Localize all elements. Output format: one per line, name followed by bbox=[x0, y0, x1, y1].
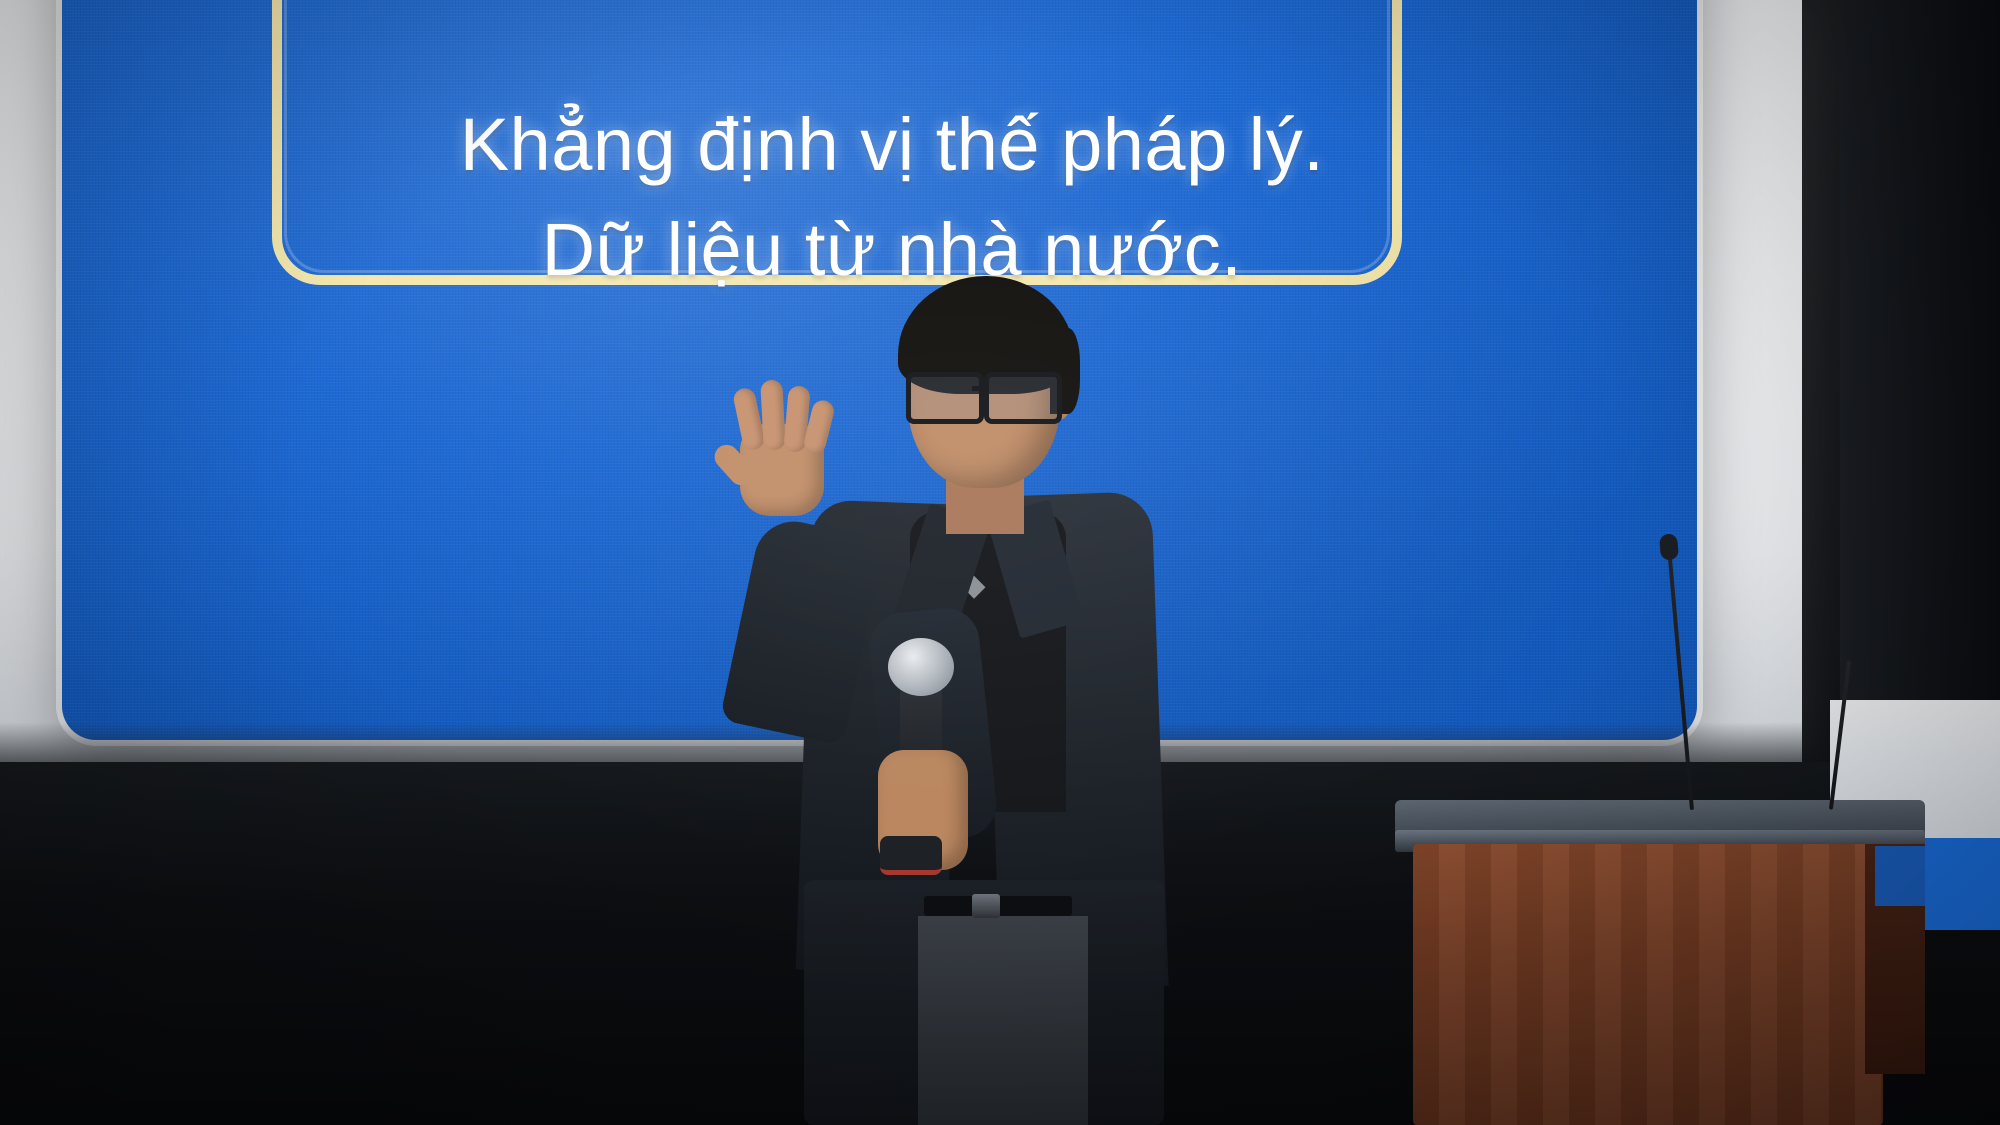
glasses-lens-right bbox=[984, 372, 1062, 424]
speaker-trousers bbox=[918, 916, 1088, 1125]
slide-headline-line-1: Khẳng định vị thế pháp lý. bbox=[202, 92, 1582, 197]
hand-finger bbox=[760, 379, 786, 450]
glasses-icon bbox=[906, 372, 1068, 416]
podium-blue-strip bbox=[1875, 846, 1925, 906]
microphone-head bbox=[888, 638, 954, 696]
speaker-figure: ◆ Educ bbox=[760, 280, 1200, 1125]
raised-hand-icon bbox=[724, 380, 840, 520]
glasses-lens-left bbox=[906, 372, 984, 424]
podium-body bbox=[1413, 844, 1883, 1125]
podium bbox=[1395, 800, 1925, 1125]
screenshot-root: Official: nvan@trolyso-hcmc.vn Khẳng địn… bbox=[0, 0, 2000, 1125]
wristwatch-icon bbox=[880, 836, 942, 875]
slide-headline: Khẳng định vị thế pháp lý. Dữ liệu từ nh… bbox=[202, 92, 1582, 302]
belt-buckle bbox=[972, 894, 1000, 918]
gooseneck-mic-head bbox=[1659, 533, 1679, 560]
glasses-bridge bbox=[972, 386, 988, 391]
